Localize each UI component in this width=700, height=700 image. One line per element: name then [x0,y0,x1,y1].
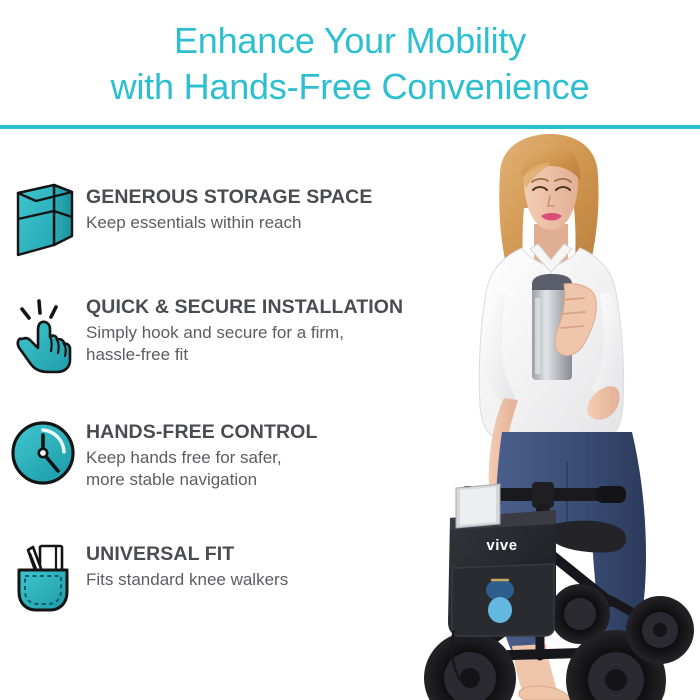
clock-icon [0,418,86,488]
feature-list: GENEROUS STORAGE SPACE Keep essentials w… [0,128,470,700]
header: Enhance Your Mobility with Hands-Free Co… [0,0,700,128]
feature-text: HANDS-FREE CONTROL Keep hands free for s… [86,418,317,491]
page-title-line2: with Hands-Free Convenience [0,64,700,110]
pocket-icon [0,540,86,614]
feature-text: QUICK & SECURE INSTALLATION Simply hook … [86,293,403,366]
wheel-rear-left [550,584,610,644]
feature-subtitle-line1: Fits standard knee walkers [86,570,288,589]
feature-subtitle: Keep essentials within reach [86,212,372,234]
bag-brand-logo: vive [486,537,517,554]
feature-subtitle: Simply hook and secure for a firm, hassl… [86,322,403,366]
tumbler-highlight [535,298,540,374]
feature-subtitle: Fits standard knee walkers [86,569,288,591]
feature-subtitle-line1: Keep essentials within reach [86,213,301,232]
page-title: Enhance Your Mobility with Hands-Free Co… [0,18,700,110]
feature-subtitle-line2: hassle-free fit [86,344,403,366]
feature-item-universal-fit: UNIVERSAL FIT Fits standard knee walkers [0,540,288,614]
feature-subtitle-line1: Simply hook and secure for a firm, [86,323,344,342]
feature-title: GENEROUS STORAGE SPACE [86,185,372,209]
product-photo-illustration: vive [404,132,700,700]
wheel-rear-right [626,596,694,664]
foot-right [519,686,571,700]
feature-title: UNIVERSAL FIT [86,542,288,566]
feature-text: GENEROUS STORAGE SPACE Keep essentials w… [86,183,372,234]
page-title-line1: Enhance Your Mobility [174,20,526,61]
product-infographic: Enhance Your Mobility with Hands-Free Co… [0,0,700,700]
feature-title: QUICK & SECURE INSTALLATION [86,295,403,319]
storage-box-icon [0,183,86,257]
tapping-hand-icon [0,293,86,375]
feature-subtitle-line2: more stable navigation [86,469,317,491]
feature-item-storage: GENEROUS STORAGE SPACE Keep essentials w… [0,183,372,257]
wheel-front-left [424,632,516,700]
product-photo: vive [404,132,700,700]
feature-subtitle-line1: Keep hands free for safer, [86,448,282,467]
feature-item-installation: QUICK & SECURE INSTALLATION Simply hook … [0,293,403,375]
feature-subtitle: Keep hands free for safer, more stable n… [86,447,317,491]
feature-title: HANDS-FREE CONTROL [86,420,317,444]
handlebar-grip-right [596,486,626,503]
tablet-screen [460,487,496,525]
feature-text: UNIVERSAL FIT Fits standard knee walkers [86,540,288,591]
feature-item-hands-free: HANDS-FREE CONTROL Keep hands free for s… [0,418,317,491]
